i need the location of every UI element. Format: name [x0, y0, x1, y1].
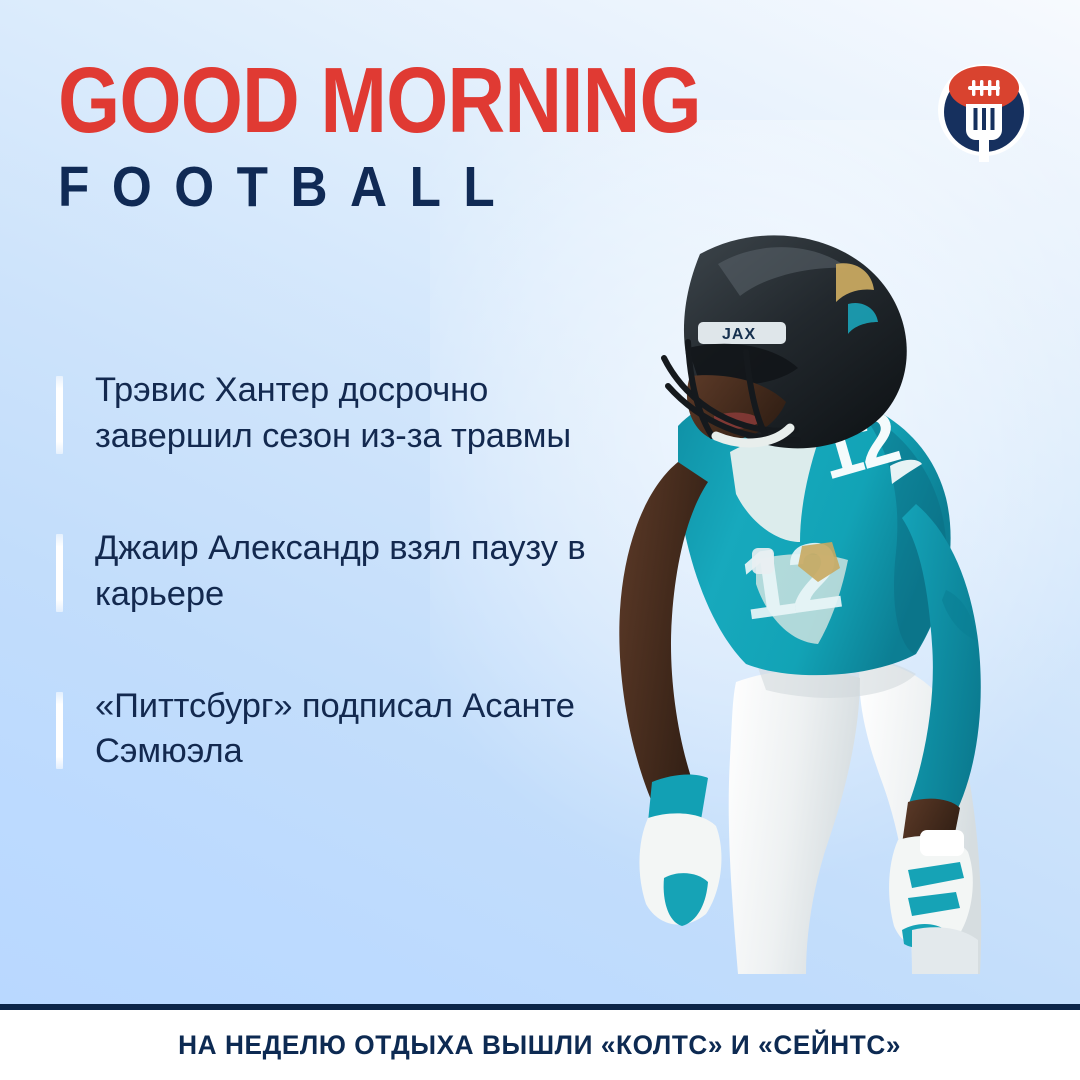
headline-football: FOOTBALL [58, 159, 616, 216]
footer-caption: НА НЕДЕЛЮ ОТДЫХА ВЫШЛИ «КОЛТС» И «СЕЙНТС… [179, 1030, 902, 1061]
news-item-text: Трэвис Хантер досрочно завершил сезон из… [95, 368, 596, 460]
brand-headline: GOOD MORNING FOOTBALL [58, 56, 678, 216]
bullet-marker-bar [56, 376, 63, 454]
news-item-text: Джаир Александр взял паузу в карьере [95, 526, 596, 618]
list-item: Джаир Александр взял паузу в карьере [56, 526, 596, 618]
list-item: «Питтсбург» подписал Асанте Сэмюэла [56, 684, 596, 776]
news-list: Трэвис Хантер досрочно завершил сезон из… [56, 368, 596, 775]
headline-good-morning: GOOD MORNING [58, 56, 591, 145]
list-item: Трэвис Хантер досрочно завершил сезон из… [56, 368, 596, 460]
news-item-text: «Питтсбург» подписал Асанте Сэмюэла [95, 684, 596, 776]
social-news-card: 12 12 JAX [0, 0, 1080, 1080]
player-photo: 12 12 JAX [560, 230, 1080, 1006]
footer-bar: НА НЕДЕЛЮ ОТДЫХА ВЫШЛИ «КОЛТС» И «СЕЙНТС… [0, 1010, 1080, 1080]
bullet-marker-bar [56, 692, 63, 770]
gmfb-logo [930, 52, 1038, 164]
svg-text:JAX: JAX [722, 326, 756, 343]
bullet-marker-bar [56, 534, 63, 612]
svg-text:12: 12 [734, 521, 845, 641]
